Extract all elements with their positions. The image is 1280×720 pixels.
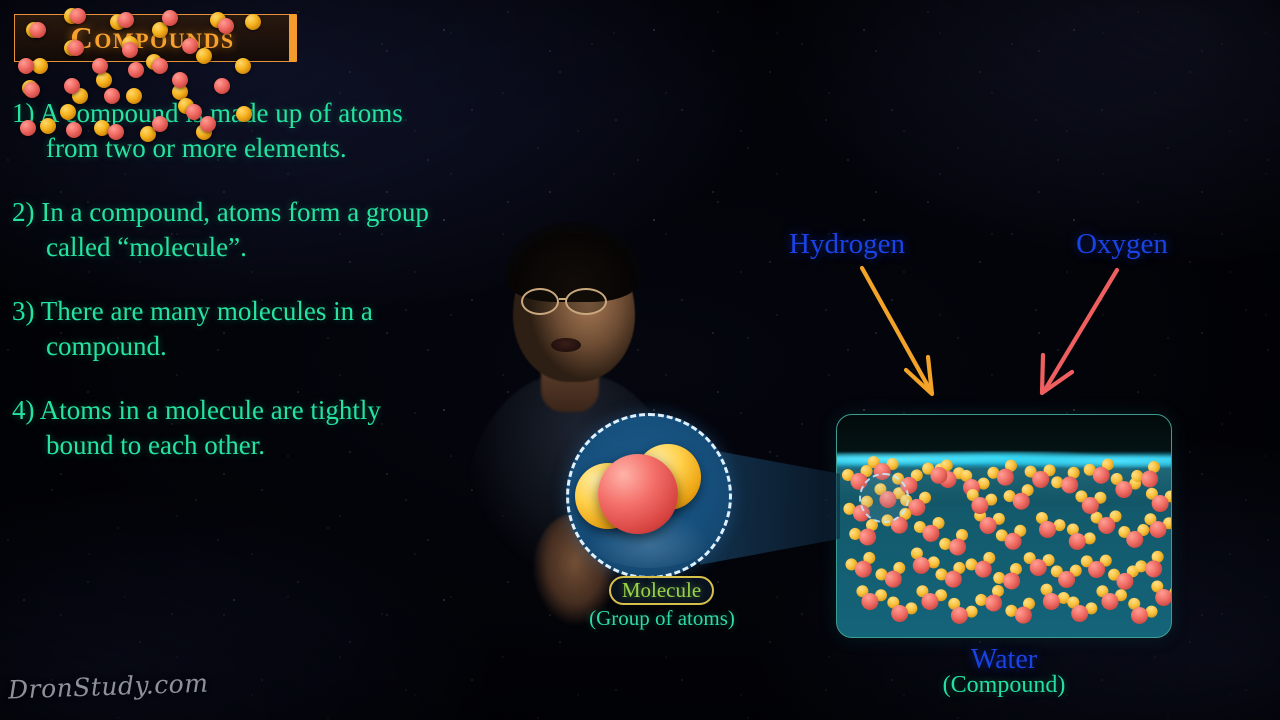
magnified-molecule-view [566,413,732,579]
oxygen-atom [1081,496,1099,514]
water-molecule [1022,551,1054,578]
water-molecule [1093,584,1127,614]
oxygen-atom-large [598,454,678,534]
water-molecule [1062,595,1098,627]
water-molecule [941,596,978,630]
water-compound-container [836,414,1172,638]
water-molecule [1051,564,1082,589]
water-molecule [921,459,955,488]
water-molecule [1074,490,1106,516]
water-molecule [844,551,880,584]
oxygen-atom [1098,516,1116,534]
water-molecule [853,584,887,614]
water-molecule [1024,464,1056,490]
water-molecule [913,584,947,614]
water-label-group: Water (Compound) [836,644,1172,699]
hydrogen-arrow [862,268,932,394]
water-molecule [882,595,918,627]
oxygen-arrow [1042,270,1117,393]
water-sublabel: (Compound) [836,672,1172,699]
molecule-label-pill: Molecule [609,576,714,605]
oxygen-atom [1058,571,1076,589]
molecule-sublabel: (Group of atoms) [560,606,764,631]
oxygen-atom [1088,561,1106,579]
water-molecule [1081,554,1112,579]
oxygen-atom [1032,470,1050,488]
oxygen-atom [1029,558,1048,577]
water-molecule [1143,487,1172,515]
highlighted-molecule-circle [859,473,909,523]
slide-stage: Compounds 1) A compound is made up of at… [0,0,1280,720]
molecule-label: Molecule [622,578,701,603]
